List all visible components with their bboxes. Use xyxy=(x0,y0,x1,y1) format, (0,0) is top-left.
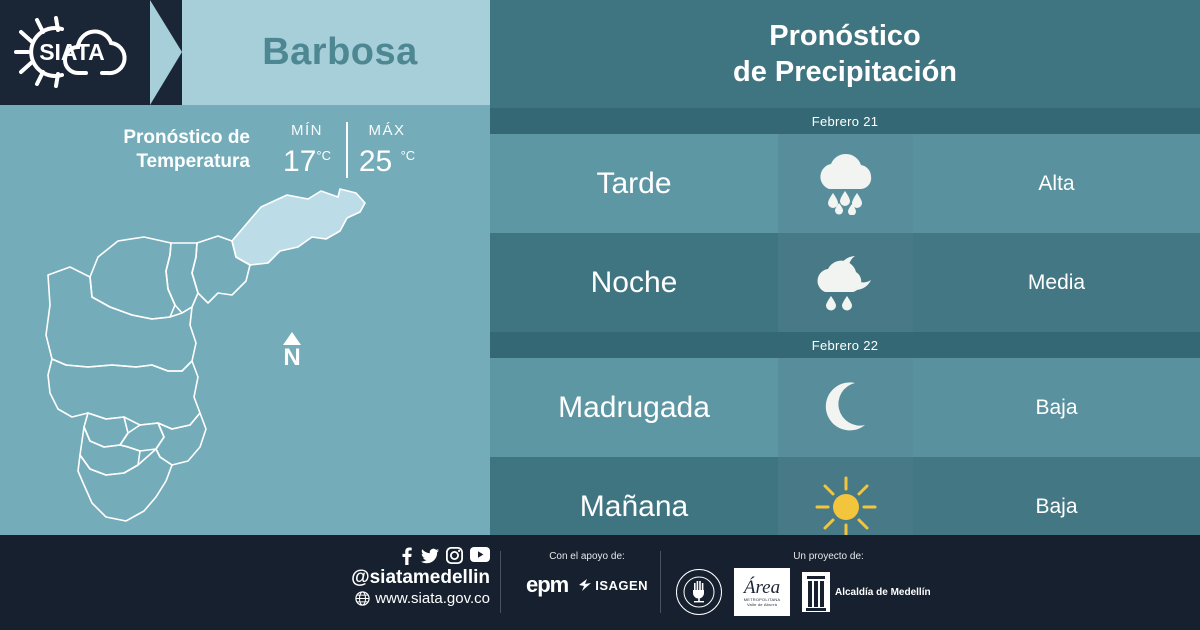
moon-rain-cloud-icon xyxy=(778,233,913,332)
social-block: @siatamedellin www.siata.gov.co xyxy=(300,547,490,608)
instagram-icon[interactable] xyxy=(446,547,463,564)
temperature-title: Pronóstico de Temperatura xyxy=(70,122,250,174)
probability-label: Alta xyxy=(913,134,1200,233)
date-header-1: Febrero 21 xyxy=(490,108,1200,134)
weather-forecast-poster: SIATA Barbosa Pronóstico de Temperatura … xyxy=(0,0,1200,630)
left-header: SIATA Barbosa xyxy=(0,0,490,105)
footer-divider-2 xyxy=(660,551,661,613)
temperature-min-label: MÍN xyxy=(268,122,346,139)
forecast-row[interactable]: Madrugada Baja xyxy=(490,358,1200,457)
youtube-icon[interactable] xyxy=(470,547,490,562)
map-region-caldas[interactable] xyxy=(78,449,172,521)
forecast-row[interactable]: Noche Media xyxy=(490,233,1200,332)
temperature-max-value-wrap: 25 °C xyxy=(348,140,426,178)
alcaldia-medellin-logo: Alcaldía de Medellín xyxy=(802,572,931,612)
website-text: www.siata.gov.co xyxy=(375,589,490,608)
project-caption: Un proyecto de: xyxy=(721,551,936,562)
probability-label: Media xyxy=(913,233,1200,332)
isagen-logo: ISAGEN xyxy=(578,578,648,593)
siata-logo-wedge: SIATA xyxy=(0,0,150,105)
facebook-icon[interactable] xyxy=(399,547,414,565)
rain-cloud-icon xyxy=(778,134,913,233)
precipitation-title-line1: Pronóstico xyxy=(769,18,920,54)
amva-script-text: Área xyxy=(744,578,780,597)
support-logos: epm ISAGEN xyxy=(512,572,662,598)
sun-cloud-icon: SIATA xyxy=(14,16,132,88)
precipitation-title: Pronóstico de Precipitación xyxy=(490,0,1200,108)
temperature-min-value: 17 xyxy=(283,145,316,178)
city-name: Barbosa xyxy=(190,0,490,105)
aburra-valley-map xyxy=(40,185,460,530)
period-label: Noche xyxy=(490,233,778,332)
isagen-text: ISAGEN xyxy=(595,578,648,593)
support-caption: Con el apoyo de: xyxy=(512,551,662,562)
isagen-mark-icon xyxy=(578,578,592,592)
social-icons xyxy=(300,547,490,565)
area-metropolitana-logo: Área METROPOLITANA Valle de Aburrá xyxy=(734,568,790,616)
map-svg xyxy=(40,185,460,530)
temperature-min: MÍN 17°C xyxy=(268,122,348,178)
epm-logo: epm xyxy=(526,572,568,598)
forecast-row[interactable]: Tarde Alta xyxy=(490,134,1200,233)
universidad-seal xyxy=(676,569,722,615)
footer: @siatamedellin www.siata.gov.co Con el a… xyxy=(0,535,1200,630)
left-panel: SIATA Barbosa Pronóstico de Temperatura … xyxy=(0,0,490,535)
date-header-2: Febrero 22 xyxy=(490,332,1200,358)
temperature-max-unit: °C xyxy=(401,148,416,163)
temperature-min-value-wrap: 17°C xyxy=(268,140,346,178)
temperature-min-unit: °C xyxy=(316,148,331,163)
temperature-title-line1: Pronóstico de xyxy=(70,126,250,150)
map-region-envigado[interactable] xyxy=(156,413,206,465)
temperature-max: MÁX 25 °C xyxy=(348,122,426,178)
alcaldia-mark-icon xyxy=(802,572,830,612)
support-block: Con el apoyo de: epm ISAGEN xyxy=(512,551,662,598)
temperature-max-value: 25 xyxy=(359,145,392,178)
map-region-bello[interactable] xyxy=(90,237,175,319)
compass: N xyxy=(276,332,308,380)
precipitation-title-line2: de Precipitación xyxy=(733,54,957,90)
probability-label: Baja xyxy=(913,358,1200,457)
period-label: Madrugada xyxy=(490,358,778,457)
map-region-northwest[interactable] xyxy=(46,267,196,371)
alcaldia-text: Alcaldía de Medellín xyxy=(835,587,931,598)
temperature-values: MÍN 17°C MÁX 25 °C xyxy=(268,122,426,178)
amva-sub-2: Valle de Aburrá xyxy=(747,602,777,607)
social-handle[interactable]: @siatamedellin xyxy=(300,567,490,589)
period-label: Tarde xyxy=(490,134,778,233)
temperature-title-line2: Temperatura xyxy=(70,150,250,174)
project-logos: Área METROPOLITANA Valle de Aburrá xyxy=(676,568,936,616)
siata-logo-text: SIATA xyxy=(39,39,105,65)
moon-icon xyxy=(778,358,913,457)
right-panel: Pronóstico de Precipitación Febrero 21 T… xyxy=(490,0,1200,535)
footer-divider-1 xyxy=(500,551,501,613)
project-block: Un proyecto de: xyxy=(676,551,936,616)
twitter-icon[interactable] xyxy=(421,547,439,565)
globe-icon xyxy=(355,591,370,606)
website-line[interactable]: www.siata.gov.co xyxy=(300,589,490,608)
temperature-max-label: MÁX xyxy=(348,122,426,139)
compass-label: N xyxy=(283,346,300,370)
forecast-table: Febrero 21 Tarde Alt xyxy=(490,108,1200,556)
temperature-block: Pronóstico de Temperatura MÍN 17°C MÁX 2… xyxy=(70,122,470,182)
map-region-barbosa[interactable] xyxy=(232,189,365,265)
